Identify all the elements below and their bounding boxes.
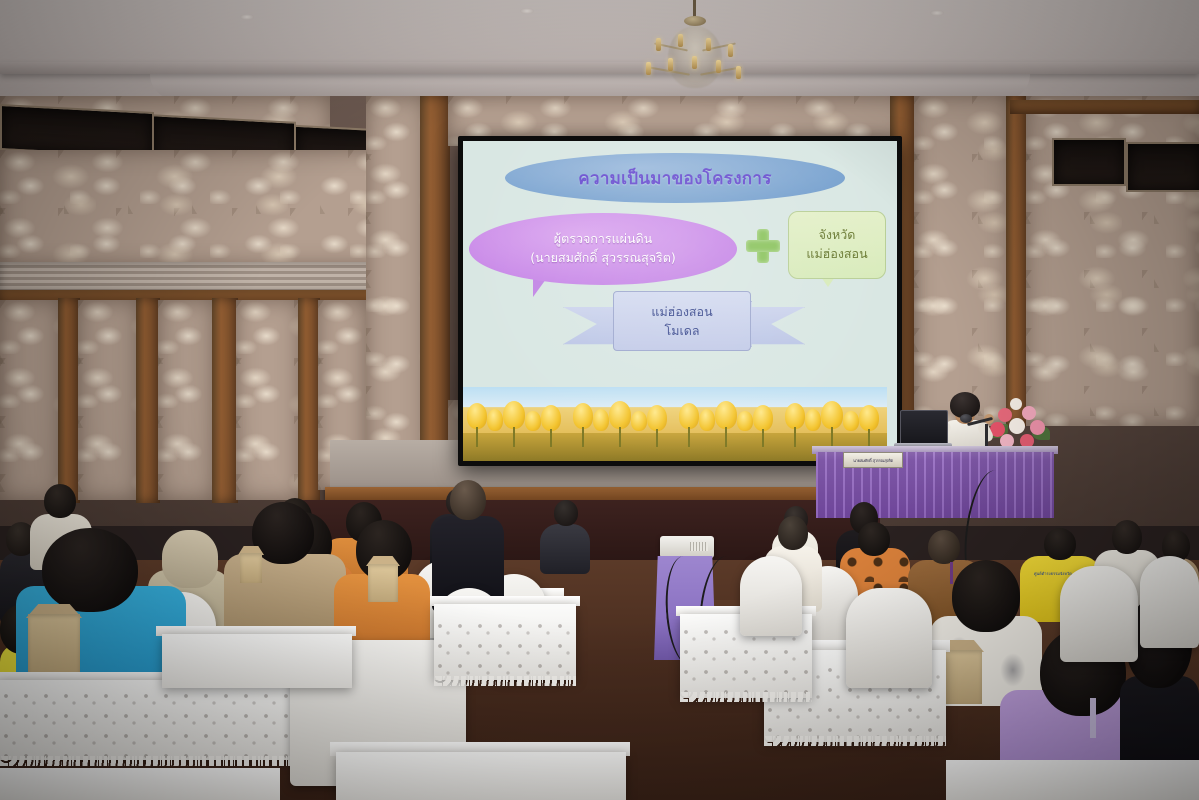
lace-edge <box>434 676 576 686</box>
stage-rail <box>325 487 855 501</box>
lace-edge <box>0 756 322 766</box>
wood-column <box>420 96 450 468</box>
wood-column <box>298 298 320 503</box>
chair <box>846 588 932 688</box>
lace-tablecloth <box>434 620 576 682</box>
table-top <box>0 768 280 800</box>
table <box>336 752 626 800</box>
crystal-chandelier <box>640 0 750 95</box>
wall-panel <box>158 300 214 500</box>
paper-bag <box>28 614 80 678</box>
downlight <box>930 10 944 16</box>
lace-tablecloth <box>0 690 322 764</box>
ombudsman-line2: (นายสมศักดิ์ สุวรรณสุจริต) <box>530 249 676 268</box>
paper-bag <box>940 650 982 704</box>
plus-icon <box>746 229 780 263</box>
province-line1: จังหวัด <box>819 226 856 245</box>
lace-tablecloth <box>680 626 812 698</box>
chair <box>1060 566 1138 662</box>
ombudsman-bubble: ผู้ตรวจการแผ่นดิน (นายสมศักดิ์ สุวรรณสุจ… <box>469 213 737 285</box>
slide-title: ความเป็นมาของโครงการ <box>578 165 771 192</box>
wood-beam <box>1010 100 1199 114</box>
list-item <box>540 500 590 570</box>
wall-panel <box>914 96 1010 426</box>
model-ribbon-plate: แม่ฮ่องสอน โมเดล <box>613 291 751 351</box>
conference-hall-photo: ความเป็นมาของโครงการ ผู้ตรวจการแผ่นดิน (… <box>0 0 1199 800</box>
tinted-window <box>1052 138 1126 186</box>
tinted-window <box>1126 142 1199 192</box>
chair <box>740 556 802 636</box>
wall-louver <box>0 262 420 292</box>
wall-panel <box>236 300 300 500</box>
speaker-nameplate: นายสมศักดิ์ สุวรรณสุจริต <box>843 452 903 468</box>
wood-column <box>212 298 238 503</box>
lace-edge <box>764 736 946 746</box>
ombudsman-line1: ผู้ตรวจการแผ่นดิน <box>554 230 652 249</box>
paper-bag <box>240 553 262 583</box>
table <box>162 634 352 688</box>
ceiling-cove-molding <box>0 62 1199 74</box>
wood-column <box>136 298 160 503</box>
downlight <box>240 14 254 20</box>
ribbon-line2: โมเดล <box>664 321 699 340</box>
slide-title-ellipse: ความเป็นมาของโครงการ <box>505 153 845 203</box>
wall-panel <box>366 96 426 466</box>
ribbon-line1: แม่ฮ่องสอน <box>651 302 712 321</box>
flower-arrangement <box>988 396 1050 452</box>
wall-panel <box>78 300 138 500</box>
wall-panel <box>0 300 60 500</box>
wood-column <box>58 298 80 503</box>
nameplate-text: นายสมศักดิ์ สุวรรณสุจริต <box>853 457 893 464</box>
province-line2: แม่ฮ่องสอน <box>806 245 867 264</box>
lace-edge <box>680 692 812 702</box>
wood-column <box>1006 96 1028 426</box>
projection-screen: ความเป็นมาของโครงการ ผู้ตรวจการแผ่นดิน (… <box>458 136 902 466</box>
paper-bag <box>368 564 398 602</box>
table-top <box>946 760 1199 800</box>
projector-vent <box>690 542 708 551</box>
wall-panel <box>0 150 420 266</box>
province-box: จังหวัด แม่ฮ่องสอน <box>788 211 886 279</box>
chair <box>1140 556 1199 648</box>
downlight <box>520 8 534 14</box>
presentation-slide: ความเป็นมาของโครงการ ผู้ตรวจการแผ่นดิน (… <box>463 141 897 461</box>
